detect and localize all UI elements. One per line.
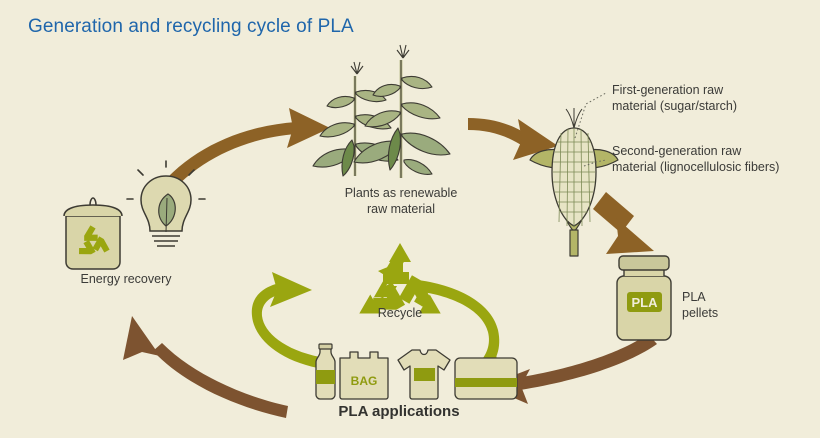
plants-label-line1: Plants as renewable: [345, 186, 458, 200]
shopping-bag-icon: BAG: [340, 352, 388, 399]
pla-pellets-label-line2: pellets: [682, 306, 718, 320]
arrow-applications-to-recycle: [252, 272, 320, 368]
pla-applications-label: PLA applications: [306, 404, 492, 420]
corn-plants-icon: [313, 45, 450, 178]
first-generation-callout: First-generation raw material (sugar/sta…: [612, 83, 817, 114]
pla-pellets-label: PLApellets: [682, 290, 772, 321]
pla-pellets-label-line1: PLA: [682, 290, 706, 304]
arrow-corn-to-pellets: [593, 192, 654, 254]
card-icon: [455, 358, 517, 399]
energy-recovery-label: Energy recovery: [56, 272, 196, 288]
trash-bin-recycle-icon: [64, 198, 122, 269]
bottle-icon: [316, 344, 335, 399]
recycle-label: Recycle: [352, 306, 448, 322]
lightbulb-leaf-icon: [127, 161, 205, 246]
pla-jar-icon: PLA: [617, 256, 671, 340]
t-shirt-icon: [398, 350, 450, 399]
bag-text: BAG: [351, 374, 378, 388]
plants-label: Plants as renewableraw material: [326, 186, 476, 217]
jar-pla-text: PLA: [632, 295, 659, 310]
plants-label-line2: raw material: [367, 202, 435, 216]
pla-cycle-infographic: Generation and recycling cycle of PLA: [0, 0, 820, 438]
corn-cob-icon: [530, 108, 618, 256]
second-generation-callout: Second-generation raw material (lignocel…: [612, 144, 820, 175]
diagram-artwork: PLA: [0, 0, 820, 438]
